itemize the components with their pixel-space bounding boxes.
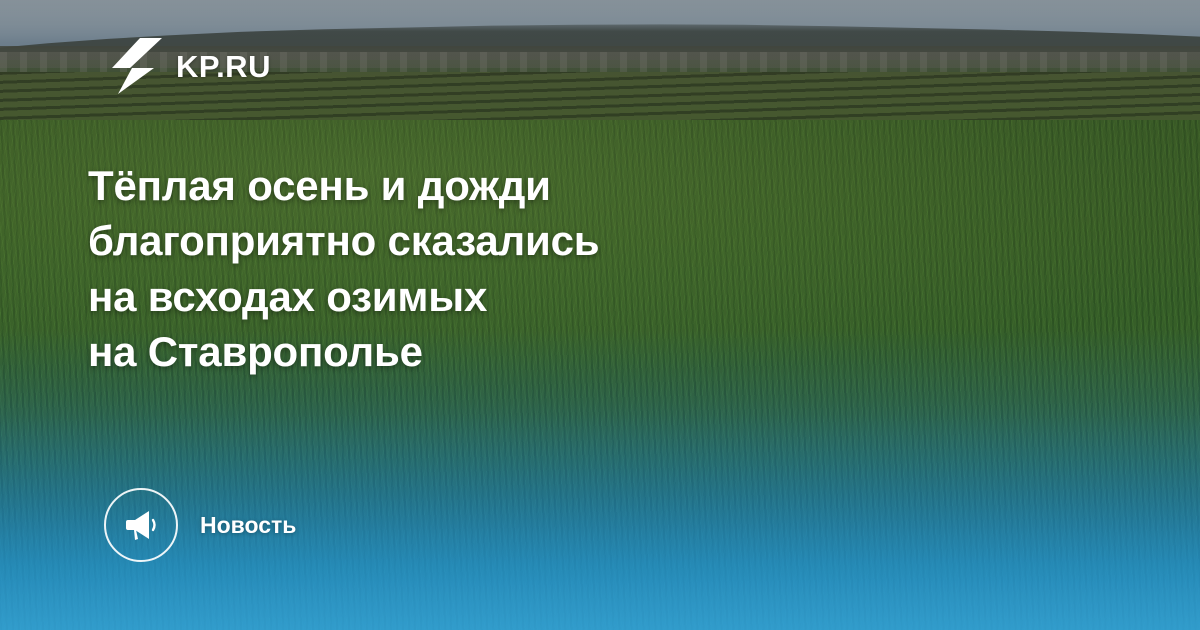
- megaphone-icon: [104, 488, 178, 562]
- brand-name: KP.RU: [176, 51, 271, 82]
- headline-line-1: Тёплая осень и дожди: [88, 158, 888, 213]
- headline-line-3: на всходах озимых: [88, 269, 888, 324]
- card-content: KP.RU Тёплая осень и дожди благоприятно …: [0, 0, 1200, 630]
- headline-line-2: благоприятно сказались: [88, 213, 888, 268]
- share-card: KP.RU Тёплая осень и дожди благоприятно …: [0, 0, 1200, 630]
- headline-line-4: на Ставрополье: [88, 324, 888, 379]
- status-badge: Новость: [104, 488, 296, 562]
- page-title: Тёплая осень и дожди благоприятно сказал…: [88, 158, 888, 380]
- status-badge-label: Новость: [200, 512, 296, 539]
- bird-logo-icon: [110, 38, 162, 94]
- brand-logo[interactable]: KP.RU: [110, 38, 271, 94]
